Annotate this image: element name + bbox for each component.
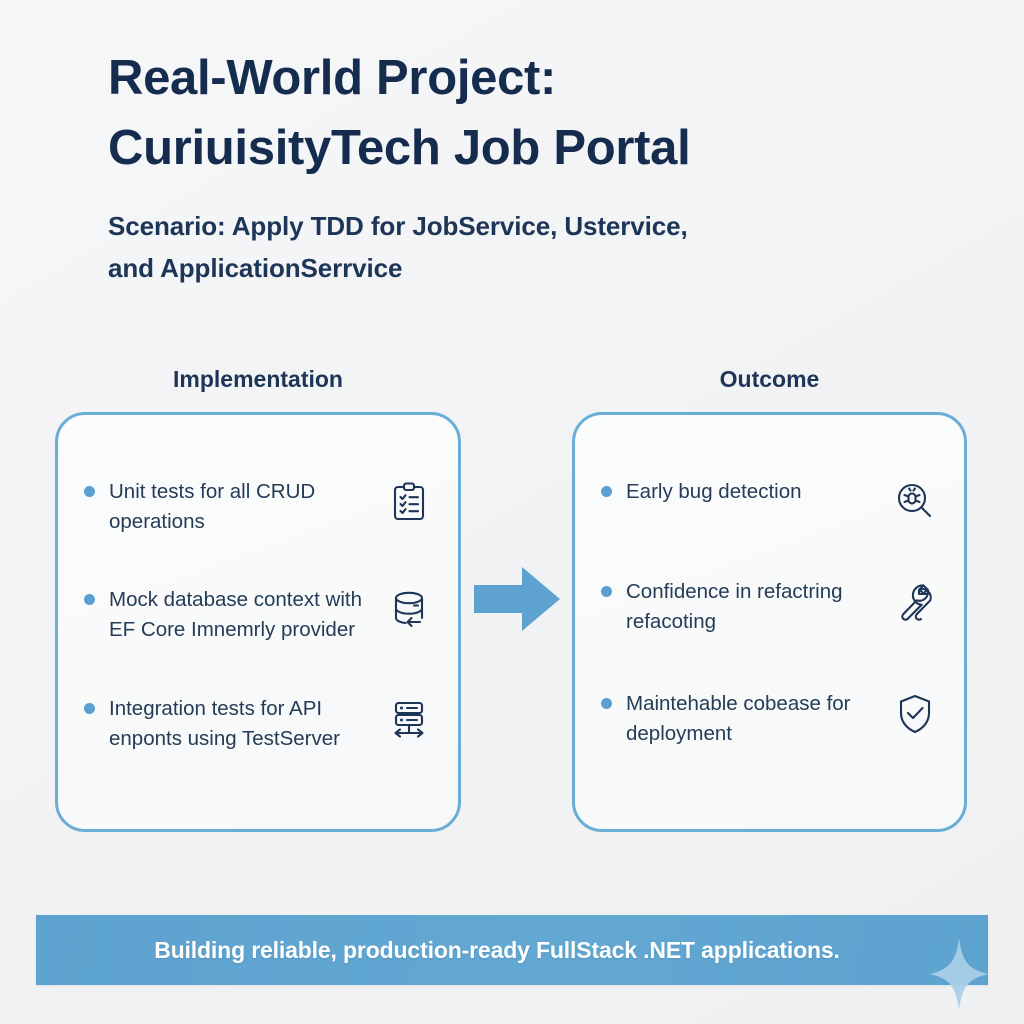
bullet-dot: [601, 586, 612, 597]
database-arrow-icon: [386, 587, 432, 633]
implementation-column-heading: Implementation: [55, 366, 461, 393]
bullet-dot: [84, 486, 95, 497]
page-title: Real-World Project: CuriuisityTech Job P…: [108, 44, 948, 183]
bullet-dot: [601, 698, 612, 709]
clipboard-checklist-icon: [386, 479, 432, 525]
list-item: Unit tests for all CRUD operations: [84, 477, 432, 537]
outcome-card: Early bug detection: [572, 412, 967, 832]
implementation-card: Unit tests for all CRUD operations: [55, 412, 461, 832]
footer-banner: Building reliable, production-ready Full…: [36, 915, 988, 985]
list-item-label: Mock database context with EF Core Imnem…: [109, 585, 372, 645]
right-arrow-icon: [472, 563, 562, 635]
shield-check-icon: [892, 691, 938, 737]
list-item-label: Confidence in refactring refacoting: [626, 577, 878, 637]
list-item: Maintehable cobease for deployment: [601, 689, 938, 749]
outcome-column-heading: Outcome: [572, 366, 967, 393]
slide-root: Real-World Project: CuriuisityTech Job P…: [0, 0, 1024, 1024]
wrench-screwdriver-icon: [892, 579, 938, 625]
bullet-dot: [84, 703, 95, 714]
list-item-label: Unit tests for all CRUD operations: [109, 477, 372, 537]
list-item: Integration tests for API enponts using …: [84, 694, 432, 754]
outcome-bullet-list: Early bug detection: [601, 451, 938, 750]
implementation-bullet-list: Unit tests for all CRUD operations: [84, 451, 432, 754]
list-item-label: Maintehable cobease for deployment: [626, 689, 878, 749]
bullet-dot: [601, 486, 612, 497]
list-item: Confidence in refactring refacoting: [601, 577, 938, 637]
page-subtitle: Scenario: Apply TDD for JobService, Uste…: [108, 205, 948, 289]
list-item-label: Early bug detection: [626, 477, 878, 507]
footer-text: Building reliable, production-ready Full…: [154, 937, 870, 964]
bug-magnifier-icon: [892, 479, 938, 525]
bullet-dot: [84, 594, 95, 605]
header: Real-World Project: CuriuisityTech Job P…: [108, 44, 948, 289]
list-item: Early bug detection: [601, 477, 938, 525]
list-item: Mock database context with EF Core Imnem…: [84, 585, 432, 645]
server-network-icon: [386, 696, 432, 742]
list-item-label: Integration tests for API enponts using …: [109, 694, 372, 754]
